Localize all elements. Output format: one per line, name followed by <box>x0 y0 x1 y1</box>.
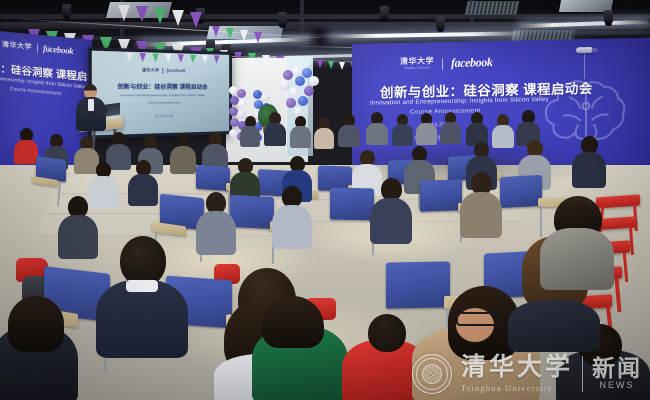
attendee <box>170 134 196 172</box>
attendee <box>440 112 461 142</box>
attendee <box>58 196 98 256</box>
attendee <box>196 192 236 252</box>
attendee <box>96 236 188 354</box>
slide-tsinghua-logo: 清华大学 <box>142 67 159 74</box>
slide-facebook-logo: facebook <box>166 68 185 74</box>
attendee <box>370 178 412 240</box>
backdrop-brand-row: 清华大学 Tsinghua University facebook <box>400 55 492 72</box>
attendee <box>314 118 334 146</box>
attendee <box>540 196 614 288</box>
attendee <box>252 296 348 400</box>
attendee <box>272 186 312 246</box>
attendee <box>338 114 360 145</box>
slide-title-en: Innovation and Entrepreneurship: Insight… <box>120 93 205 97</box>
attendee <box>202 132 228 170</box>
attendee <box>290 116 311 146</box>
attendee <box>366 112 388 142</box>
attendee <box>0 300 78 400</box>
attendee <box>240 116 260 144</box>
attendee <box>416 113 437 143</box>
slide-title-cn: 创新与创业：硅谷洞察 课程启动会 <box>117 82 207 91</box>
slide-date: 12.14.2016 <box>155 114 173 119</box>
attendee <box>516 110 540 144</box>
backdrop-left-subtitle: Course Announcement <box>10 86 61 97</box>
facebook-logo: facebook <box>451 55 492 71</box>
attendee <box>392 114 413 144</box>
tsinghua-logo-en: Tsinghua University <box>404 67 430 71</box>
slide-subtitle: Course Announcement <box>148 100 180 104</box>
attendee <box>128 160 158 204</box>
microphone-cable <box>584 53 585 79</box>
event-photograph: 清华大学 facebook 业：硅谷洞察 课程启动会 Entrepreneurs… <box>0 0 650 400</box>
tsinghua-logo-cn: 清华大学 <box>2 41 32 51</box>
attendee <box>460 172 502 234</box>
eyeglasses-icon <box>456 312 500 326</box>
hanging-microphone-icon <box>576 47 593 53</box>
speaker <box>74 84 108 128</box>
attendee <box>572 136 606 186</box>
facebook-logo: facebook <box>43 43 73 56</box>
attendee <box>14 128 38 162</box>
attendee <box>264 112 286 144</box>
attendee <box>466 112 488 144</box>
